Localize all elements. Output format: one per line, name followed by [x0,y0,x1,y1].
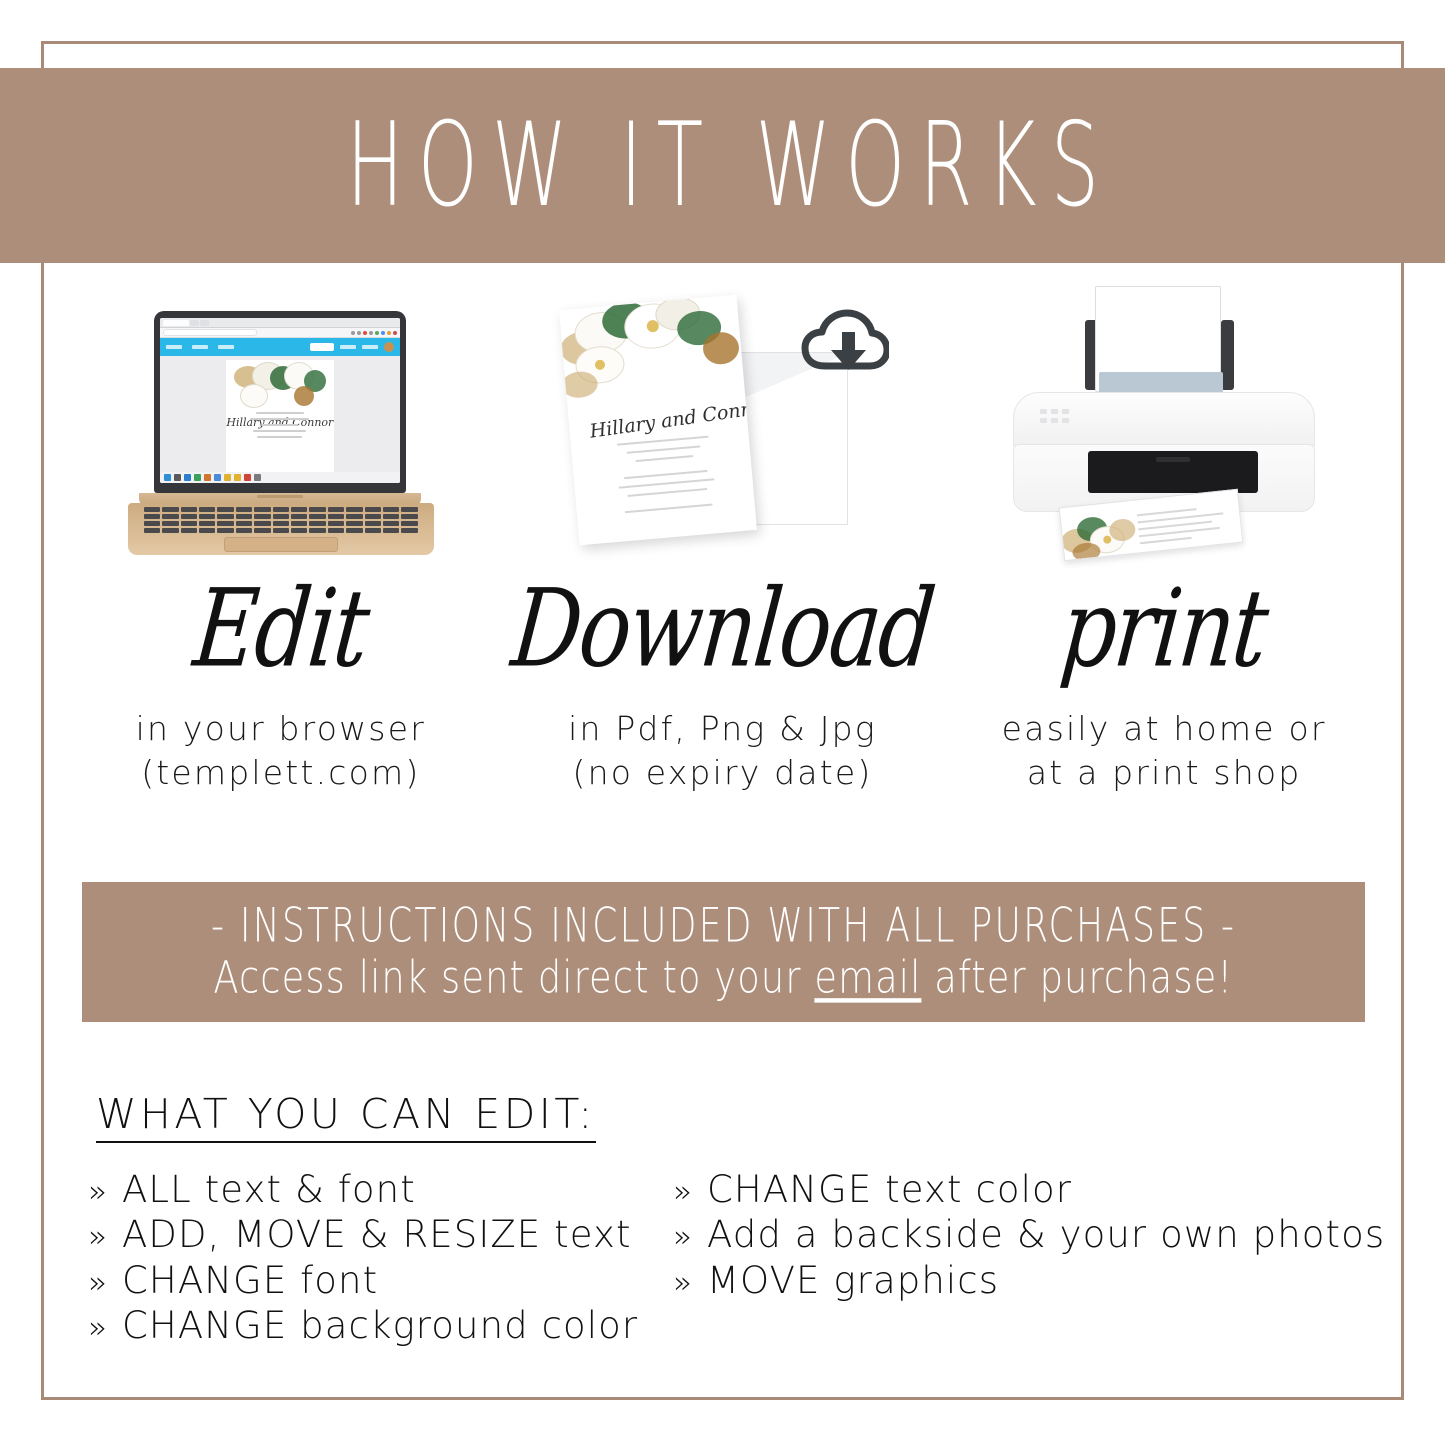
printer-icon [999,286,1329,558]
step-edit-caption: in your browser (templett.com) [136,707,426,795]
editor-canvas: Hillary and Connor [160,356,400,483]
instructions-banner: - INSTRUCTIONS INCLUDED WITH ALL PURCHAS… [82,882,1365,1022]
chevron-double-right-icon: » [88,1176,122,1210]
step-edit-caption-line1: in your browser [136,707,426,751]
edit-feature-label: CHANGE background color [122,1306,638,1346]
edit-feature-label: CHANGE font [122,1261,378,1301]
edit-feature-label: MOVE graphics [707,1261,999,1301]
edit-feature-label: ALL text & font [122,1170,416,1210]
invitation-floral-header [560,295,746,414]
avatar [384,342,394,352]
edit-feature-item: » CHANGE font [88,1261,673,1301]
email-link[interactable]: email [815,952,922,1004]
toolbar-menu-item [340,345,356,349]
edit-feature-item: » MOVE graphics [673,1261,1388,1301]
printed-floral-corner [1060,500,1149,560]
browser-tab [163,320,189,326]
how-it-works-infographic: HOW IT WORKS [0,0,1445,1445]
step-download-script-wrap: Download [513,566,932,691]
instructions-subline: Access link sent direct to your email af… [214,956,1234,1001]
toolbar-menu-item [166,345,182,349]
edit-feature-item: » CHANGE background color [88,1306,673,1346]
instructions-headline: - INSTRUCTIONS INCLUDED WITH ALL PURCHAS… [211,902,1236,949]
chevron-double-right-icon: » [673,1267,707,1301]
step-edit-artwork: Hillary and Connor [60,283,502,558]
toolbar-menu-item [218,345,234,349]
laptop-screen: Hillary and Connor [160,318,400,483]
laptop-trackpad [224,537,338,552]
invitation-body-text [240,412,320,442]
step-print-script-label: print [1057,575,1271,683]
invitation-suite-icon: Hillary and Connor [557,290,887,558]
step-download-caption: in Pdf, Png & Jpg (no expiry date) [568,707,877,795]
os-taskbar [160,472,400,483]
edit-feature-label: ADD, MOVE & RESIZE text [122,1215,632,1255]
step-download-artwork: Hillary and Connor [502,283,944,558]
edit-section-heading: WHAT YOU CAN EDIT: [96,1092,596,1143]
chevron-double-right-icon: » [673,1221,707,1255]
invitation-preview: Hillary and Connor [226,360,334,478]
page-title: HOW IT WORKS [332,108,1113,224]
toolbar-actions [310,342,394,352]
toolbar-menu-item [192,345,208,349]
browser-tab-bar [160,318,400,328]
download-button [310,343,334,351]
laptop-base [128,503,434,555]
paper-tray-right-guide [1221,320,1234,390]
steps-row: Hillary and Connor [60,283,1385,795]
laptop-icon: Hillary and Connor [126,303,436,558]
edit-features-left-column: » ALL text & font » ADD, MOVE & RESIZE t… [88,1170,673,1351]
browser-address-bar [160,328,400,338]
browser-extension-icons [351,331,397,335]
step-print-caption: easily at home or at a print shop [1002,707,1327,795]
step-edit: Hillary and Connor [60,283,502,795]
step-download-caption-line1: in Pdf, Png & Jpg [568,707,877,751]
laptop-lid: Hillary and Connor [154,311,406,493]
edit-feature-item: » ALL text & font [88,1170,673,1210]
edit-features-right-column: » CHANGE text color » Add a backside & y… [673,1170,1388,1351]
header-banner: HOW IT WORKS [0,68,1445,263]
step-edit-script-wrap: Edit [195,566,367,691]
invitation-details [595,408,735,522]
edit-features-columns: » ALL text & font » ADD, MOVE & RESIZE t… [88,1170,1388,1351]
toolbar-menu-item [362,345,378,349]
printer-output-slot [1088,451,1258,493]
laptop-keyboard [144,507,418,535]
step-print-caption-line2: at a print shop [1002,751,1327,795]
step-download-caption-line2: (no expiry date) [568,751,877,795]
step-download-script-label: Download [508,575,938,683]
step-print-caption-line1: easily at home or [1002,707,1327,751]
step-download: Hillary and Connor [502,283,944,795]
chevron-double-right-icon: » [88,1312,122,1346]
instructions-subline-after: after purchase! [922,952,1234,1004]
instructions-subline-before: Access link sent direct to your [214,952,815,1004]
step-print: print easily at home or at a print shop [943,283,1385,795]
edit-feature-item: » ADD, MOVE & RESIZE text [88,1215,673,1255]
step-print-artwork [943,283,1385,558]
chevron-double-right-icon: » [88,1221,122,1255]
chevron-double-right-icon: » [88,1267,122,1301]
edit-feature-label: Add a backside & your own photos [707,1215,1385,1255]
edit-feature-item: » Add a backside & your own photos [673,1215,1388,1255]
browser-new-tab-icon [200,320,209,326]
step-print-script-wrap: print [1062,566,1266,691]
edit-feature-item: » CHANGE text color [673,1170,1388,1210]
printer-scanner-lid [1013,392,1315,450]
invitation-card: Hillary and Connor [560,295,758,546]
browser-new-tab-icon [190,320,199,326]
cloud-download-icon [801,308,889,380]
edit-feature-label: CHANGE text color [707,1170,1072,1210]
editor-toolbar [160,338,400,356]
printer-control-panel [1040,409,1069,423]
printed-text-lines [1137,505,1226,549]
step-edit-caption-line2: (templett.com) [136,751,426,795]
url-field [163,329,257,336]
step-edit-script-label: Edit [190,575,372,683]
chevron-double-right-icon: » [673,1176,707,1210]
